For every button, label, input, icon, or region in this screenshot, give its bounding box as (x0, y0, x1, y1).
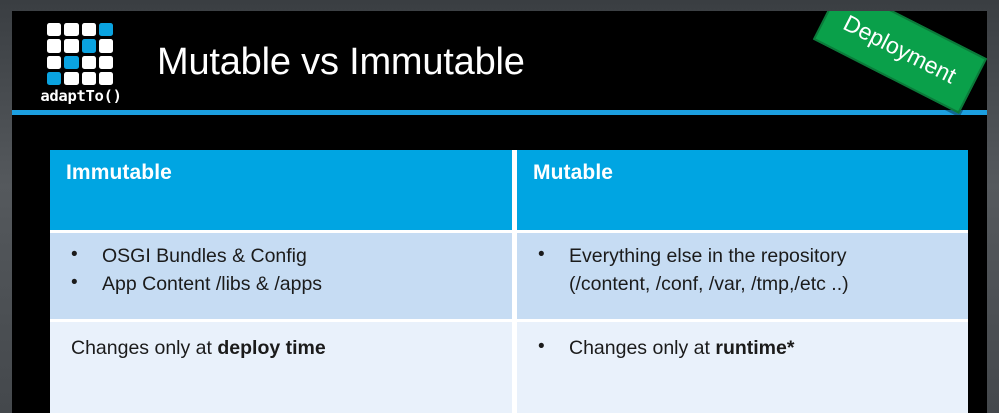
logo-dot (47, 23, 61, 36)
logo-dot (82, 56, 96, 69)
page-title: Mutable vs Immutable (157, 41, 525, 84)
logo-dot-accent (82, 39, 96, 52)
logo-dot (64, 23, 78, 36)
window-frame: adaptTo() Mutable vs Immutable Deploymen… (0, 0, 999, 413)
bullet-list: Everything else in the repository (/cont… (517, 242, 968, 298)
list-item: Changes only at runtime* (517, 334, 968, 362)
bullet-list: OSGI Bundles & Config App Content /libs … (50, 242, 512, 298)
logo-dot (99, 56, 113, 69)
logo-dot (47, 56, 61, 69)
logo-wordmark: adaptTo() (31, 87, 131, 105)
logo-dot (99, 39, 113, 52)
adaptto-logo: adaptTo() (31, 20, 131, 108)
logo-dot (64, 39, 78, 52)
logo-dot-accent (64, 56, 78, 69)
table-cell-mutable-change: Changes only at runtime* (517, 322, 968, 413)
table-row: Changes only at deploy time Changes only… (50, 322, 968, 413)
list-item: App Content /libs & /apps (50, 270, 512, 298)
logo-dot-accent (99, 23, 113, 36)
cell-text: Changes only at deploy time (50, 334, 512, 362)
slide-canvas: adaptTo() Mutable vs Immutable Deploymen… (12, 11, 987, 413)
bullet-list: Changes only at runtime* (517, 334, 968, 362)
list-item: Everything else in the repository (/cont… (517, 242, 968, 298)
table-header-label: Mutable (533, 161, 613, 184)
logo-dot (82, 23, 96, 36)
list-item-line-1: Everything else in the repository (569, 245, 846, 267)
logo-dot-accent (47, 72, 61, 85)
cell-text-strong: runtime* (715, 337, 794, 359)
table-header-row: Immutable Mutable (50, 150, 968, 230)
table-cell-mutable-items: Everything else in the repository (/cont… (517, 233, 968, 319)
comparison-table: Immutable Mutable OSGI Bundles & Config … (50, 150, 968, 413)
table-cell-immutable-items: OSGI Bundles & Config App Content /libs … (50, 233, 512, 319)
adaptto-dot-grid-icon (47, 23, 113, 85)
cell-text-prefix: Changes only at (71, 337, 217, 359)
table-header-cell-mutable: Mutable (517, 150, 968, 230)
logo-dot (64, 72, 78, 85)
logo-dot (47, 39, 61, 52)
cell-text-prefix: Changes only at (569, 337, 715, 359)
table-header-cell-immutable: Immutable (50, 150, 512, 230)
header-accent-rule (12, 110, 987, 115)
table-cell-immutable-change: Changes only at deploy time (50, 322, 512, 413)
logo-dot (99, 72, 113, 85)
table-header-label: Immutable (66, 161, 172, 184)
logo-dot (82, 72, 96, 85)
list-item: OSGI Bundles & Config (50, 242, 512, 270)
table-row: OSGI Bundles & Config App Content /libs … (50, 233, 968, 319)
list-item-line-2: (/content, /conf, /var, /tmp,/etc ..) (569, 273, 849, 295)
cell-text-strong: deploy time (217, 337, 325, 359)
